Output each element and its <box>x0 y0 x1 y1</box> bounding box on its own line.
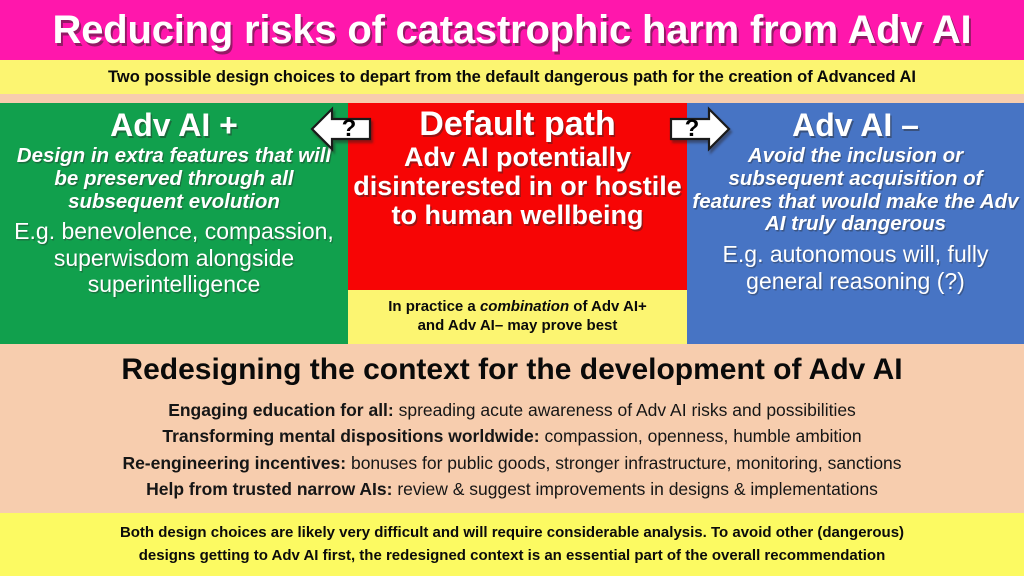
arrow-left-shape <box>310 104 372 154</box>
subtitle-bar: Two possible design choices to depart fr… <box>0 60 1024 94</box>
list-item: Re-engineering incentives: bonuses for p… <box>0 450 1024 477</box>
panel-adv-ai-plus: Adv AI + Design in extra features that w… <box>0 103 348 344</box>
panel-adv-ai-minus-examples: E.g. autonomous will, fully general reas… <box>687 241 1024 293</box>
combination-note-line-1: In practice a combination of Adv AI+ <box>388 298 647 317</box>
combination-note-box: In practice a combination of Adv AI+ and… <box>348 290 687 344</box>
arrow-right-icon: ? <box>669 104 731 154</box>
list-item: Transforming mental dispositions worldwi… <box>0 423 1024 450</box>
redesign-heading: Redesigning the context for the developm… <box>0 354 1024 386</box>
list-item-rest: review & suggest improvements in designs… <box>392 479 877 499</box>
combination-note-line-2: and Adv AI– may prove best <box>418 317 618 336</box>
redesign-bullet-list: Engaging education for all: spreading ac… <box>0 397 1024 503</box>
panel-adv-ai-plus-heading: Adv AI + <box>0 109 348 142</box>
list-item-rest: bonuses for public goods, stronger infra… <box>346 453 901 473</box>
list-item-lead: Help from trusted narrow AIs: <box>146 479 392 499</box>
panel-default-path-description: Adv AI potentially disinterested in or h… <box>348 143 687 230</box>
redesign-section: Redesigning the context for the developm… <box>0 344 1024 513</box>
footer-note-line-1: Both design choices are likely very diff… <box>120 522 904 545</box>
list-item: Help from trusted narrow AIs: review & s… <box>0 476 1024 503</box>
panel-adv-ai-minus: Adv AI – Avoid the inclusion or subseque… <box>687 103 1024 344</box>
page-title: Reducing risks of catastrophic harm from… <box>53 10 972 50</box>
slide-canvas: Reducing risks of catastrophic harm from… <box>0 0 1024 576</box>
arrow-left-icon: ? <box>310 104 372 154</box>
list-item-lead: Transforming mental dispositions worldwi… <box>162 426 539 446</box>
panel-adv-ai-minus-heading: Adv AI – <box>687 109 1024 142</box>
panel-default-path: Default path Adv AI potentially disinter… <box>348 103 687 290</box>
list-item: Engaging education for all: spreading ac… <box>0 397 1024 424</box>
list-item-rest: compassion, openness, humble ambition <box>540 426 862 446</box>
subtitle-text: Two possible design choices to depart fr… <box>108 68 916 87</box>
footer-note-bar: Both design choices are likely very diff… <box>0 513 1024 576</box>
combo-text-emphasis: combination <box>480 298 569 315</box>
footer-note-line-2: designs getting to Adv AI first, the red… <box>139 545 886 568</box>
list-item-rest: spreading acute awareness of Adv AI risk… <box>394 400 856 420</box>
panel-adv-ai-minus-description: Avoid the inclusion or subsequent acquis… <box>687 145 1024 237</box>
combo-text-b: of Adv AI+ <box>569 298 647 315</box>
slide-title-bar: Reducing risks of catastrophic harm from… <box>0 0 1024 60</box>
list-item-lead: Engaging education for all: <box>168 400 394 420</box>
list-item-lead: Re-engineering incentives: <box>122 453 346 473</box>
panel-default-path-heading: Default path <box>348 107 687 142</box>
combo-text-a: In practice a <box>388 298 480 315</box>
arrow-right-shape <box>669 104 731 154</box>
panel-adv-ai-plus-examples: E.g. benevolence, compassion, superwisdo… <box>0 218 348 297</box>
panel-adv-ai-plus-description: Design in extra features that will be pr… <box>0 145 348 214</box>
